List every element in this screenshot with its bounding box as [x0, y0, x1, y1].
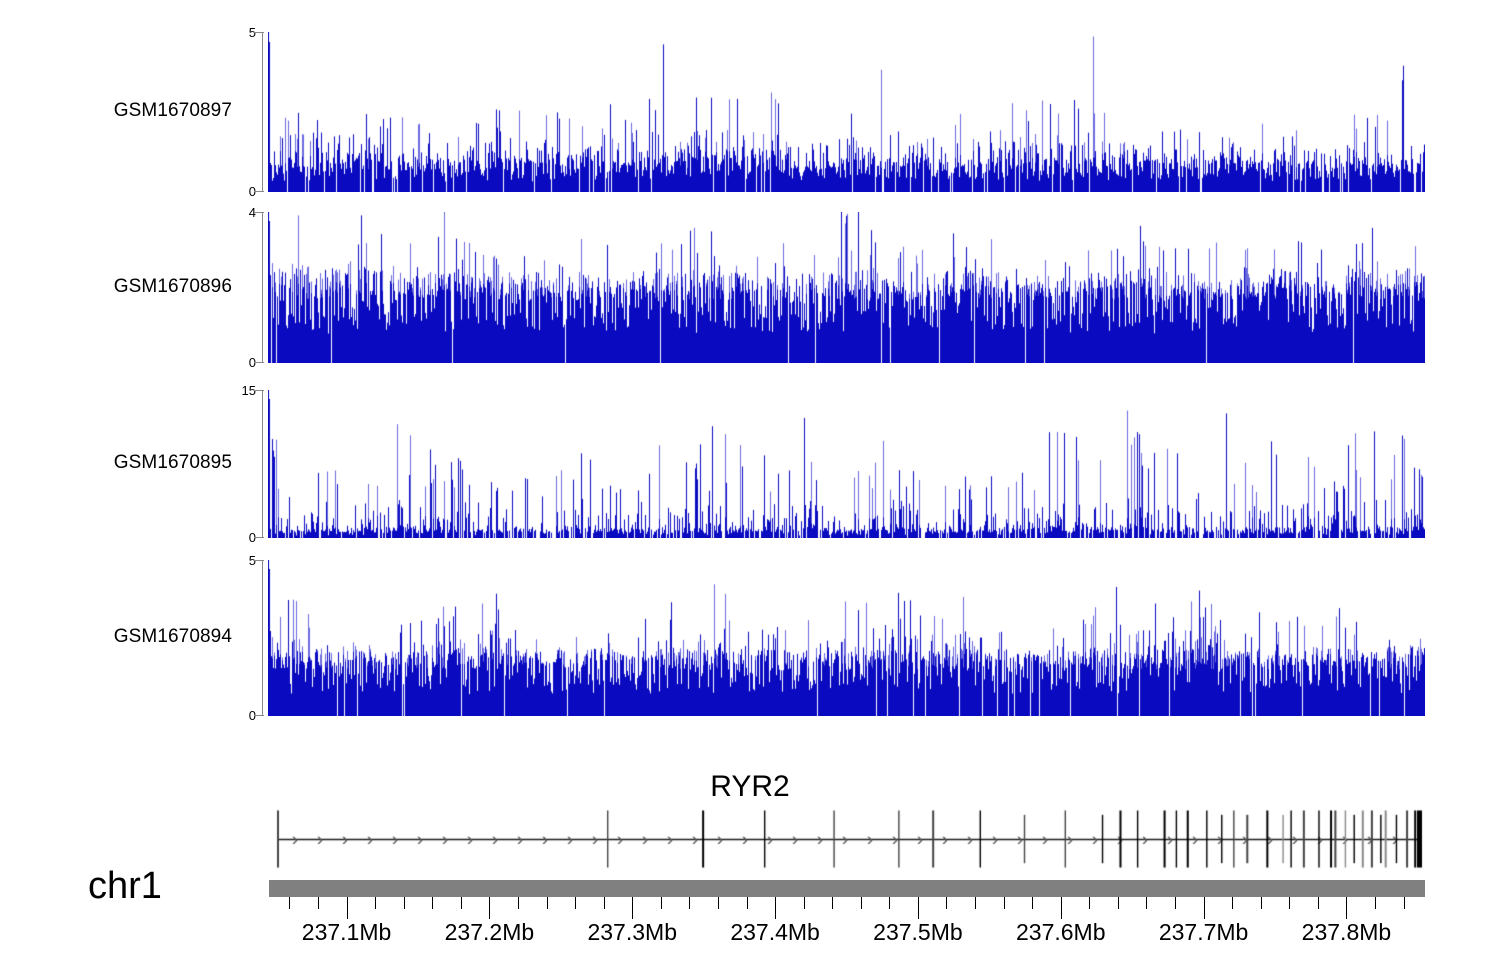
ruler-minor-tick [432, 897, 433, 909]
ruler-major-tick [1346, 897, 1347, 919]
track-plot-area[interactable] [268, 32, 1425, 192]
coverage-bar-canvas[interactable] [268, 390, 1425, 538]
ruler-major-tick [1204, 897, 1205, 919]
ruler-major-tick [775, 897, 776, 919]
ruler-minor-tick [1004, 897, 1005, 909]
ruler-minor-tick [404, 897, 405, 909]
ruler-minor-tick [461, 897, 462, 909]
ruler-major-tick [347, 897, 348, 919]
ruler-minor-tick [289, 897, 290, 909]
ruler-major-tick [1061, 897, 1062, 919]
gene-model-canvas-wrap[interactable] [268, 808, 1425, 870]
ruler-minor-tick [946, 897, 947, 909]
ruler-minor-tick [804, 897, 805, 909]
ruler-minor-tick [1232, 897, 1233, 909]
track-sample-label: GSM1670894 [114, 626, 232, 648]
ruler-minor-tick [889, 897, 890, 909]
ruler-minor-tick [1289, 897, 1290, 909]
ruler-minor-tick [1175, 897, 1176, 909]
gene-annotation-track[interactable]: RYR2 [0, 770, 1500, 870]
ruler-tick-label: 237.7Mb [1159, 919, 1249, 946]
track-plot-area[interactable] [268, 212, 1425, 363]
ruler-tick-label: 237.8Mb [1302, 919, 1392, 946]
ruler-minor-tick [604, 897, 605, 909]
ruler-minor-tick [318, 897, 319, 909]
genomic-coordinate-ruler: 237.1Mb237.2Mb237.3Mb237.4Mb237.5Mb237.6… [268, 897, 1426, 967]
ruler-minor-tick [575, 897, 576, 909]
ruler-minor-tick [861, 897, 862, 909]
ruler-minor-tick [718, 897, 719, 909]
ruler-tick-label: 237.4Mb [730, 919, 820, 946]
ruler-tick-label: 237.5Mb [873, 919, 963, 946]
ruler-minor-tick [1146, 897, 1147, 909]
ruler-tick-label: 237.2Mb [445, 919, 535, 946]
ruler-minor-tick [1089, 897, 1090, 909]
chromosome-label: chr1 [88, 865, 162, 908]
ruler-minor-tick [1404, 897, 1405, 909]
track-sample-label: GSM1670895 [114, 452, 232, 474]
ruler-minor-tick [518, 897, 519, 909]
ruler-minor-tick [375, 897, 376, 909]
ruler-minor-tick [547, 897, 548, 909]
ruler-minor-tick [1375, 897, 1376, 909]
ruler-minor-tick [975, 897, 976, 909]
ruler-minor-tick [1318, 897, 1319, 909]
coverage-track[interactable]: GSM167089640 [0, 190, 1500, 371]
chromosome-ideogram-bar[interactable] [269, 880, 1425, 897]
genome-browser-view: GSM167089750GSM167089640GSM1670895150GSM… [0, 0, 1500, 980]
coverage-bar-canvas[interactable] [268, 560, 1425, 716]
track-sample-label: GSM1670896 [114, 276, 232, 298]
track-sample-label: GSM1670897 [114, 100, 232, 122]
coverage-bar-canvas[interactable] [268, 212, 1425, 363]
gene-name-label: RYR2 [0, 770, 1500, 804]
ruler-minor-tick [832, 897, 833, 909]
coverage-track[interactable]: GSM167089450 [0, 538, 1500, 724]
ruler-major-tick [489, 897, 490, 919]
ruler-minor-tick [1118, 897, 1119, 909]
coverage-track[interactable]: GSM167089750 [0, 10, 1500, 200]
ruler-major-tick [632, 897, 633, 919]
ruler-minor-tick [661, 897, 662, 909]
ruler-minor-tick [1032, 897, 1033, 909]
ruler-minor-tick [689, 897, 690, 909]
coverage-bar-canvas[interactable] [268, 32, 1425, 192]
track-plot-area[interactable] [268, 390, 1425, 538]
track-plot-area[interactable] [268, 560, 1425, 716]
ruler-tick-label: 237.6Mb [1016, 919, 1106, 946]
ruler-minor-tick [1261, 897, 1262, 909]
ruler-minor-tick [747, 897, 748, 909]
gene-model-canvas[interactable] [268, 808, 1425, 870]
ruler-tick-label: 237.3Mb [587, 919, 677, 946]
ruler-tick-label: 237.1Mb [302, 919, 392, 946]
ruler-major-tick [918, 897, 919, 919]
coverage-track[interactable]: GSM1670895150 [0, 368, 1500, 546]
